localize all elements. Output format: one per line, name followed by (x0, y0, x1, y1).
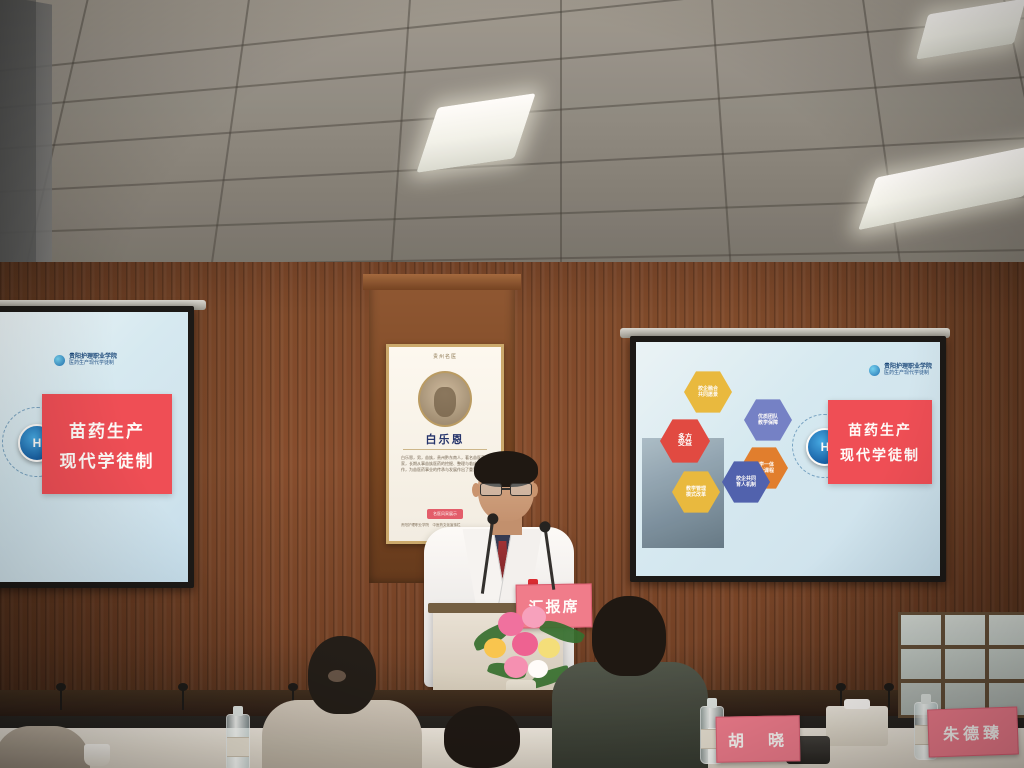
ceiling (0, 0, 1024, 300)
slide-headline-left: 苗药生产 现代学徒制 (42, 394, 172, 494)
school-emblem-icon (869, 365, 880, 376)
projection-screen-right: 贵阳护理职业学院 医药生产现代学徒制 校企融合共同愿景 优质团队教学保障 多方受… (630, 336, 946, 582)
slide-headline-line1: 苗药生产 (848, 420, 912, 440)
poster-portrait-icon (418, 371, 472, 427)
tissue-box-icon (826, 706, 888, 746)
slide-headline-line2: 现代学徒制 (60, 447, 155, 472)
poster-header: 贵州名医 (389, 353, 501, 360)
microphone-icon (888, 688, 890, 710)
audience-person (552, 596, 708, 768)
cup-icon (84, 744, 110, 766)
audience-person (430, 706, 540, 768)
projection-screen-left: 贵阳护理职业学院 医药生产现代学徒制 H 苗药生产 现代学徒制 (0, 306, 194, 588)
audience-person (0, 716, 90, 768)
microphone-icon (182, 688, 184, 710)
microphone-icon (60, 688, 62, 710)
poster-name: 白乐恩 (389, 431, 501, 447)
slide-headline-right: 苗药生产 现代学徒制 (828, 400, 932, 484)
slide-hexagon: 优质团队教学保障 (744, 398, 792, 442)
slide-logo-sub: 医药生产现代学徒制 (69, 360, 114, 366)
slide-hexagon: 校企融合共同愿景 (684, 370, 732, 414)
audience-person (262, 636, 422, 768)
nameplate-text: 胡 晓 (728, 726, 788, 751)
nameplate: 朱德臻 (927, 706, 1019, 757)
slide-headline-line2: 现代学徒制 (840, 445, 920, 465)
nameplate-text: 朱德臻 (943, 719, 1004, 745)
slide-logo-left: 贵阳护理职业学院 医药生产现代学徒制 (54, 354, 117, 366)
slide-headline-line1: 苗药生产 (69, 417, 145, 442)
school-emblem-icon (54, 355, 65, 366)
nameplate: 胡 晓 (716, 715, 801, 762)
water-bottle-icon (226, 714, 250, 768)
slide-logo-right: 贵阳护理职业学院 医药生产现代学徒制 (869, 364, 932, 376)
slide-logo-sub: 医药生产现代学徒制 (884, 370, 929, 376)
emblem-letter: H (33, 436, 42, 450)
photo-scene: 贵州名医 白乐恩 白乐恩，男，苗族，贵州黔东南人，著名苗医药专家，长期从事苗族医… (0, 0, 1024, 768)
eyeglasses-icon (480, 483, 532, 495)
